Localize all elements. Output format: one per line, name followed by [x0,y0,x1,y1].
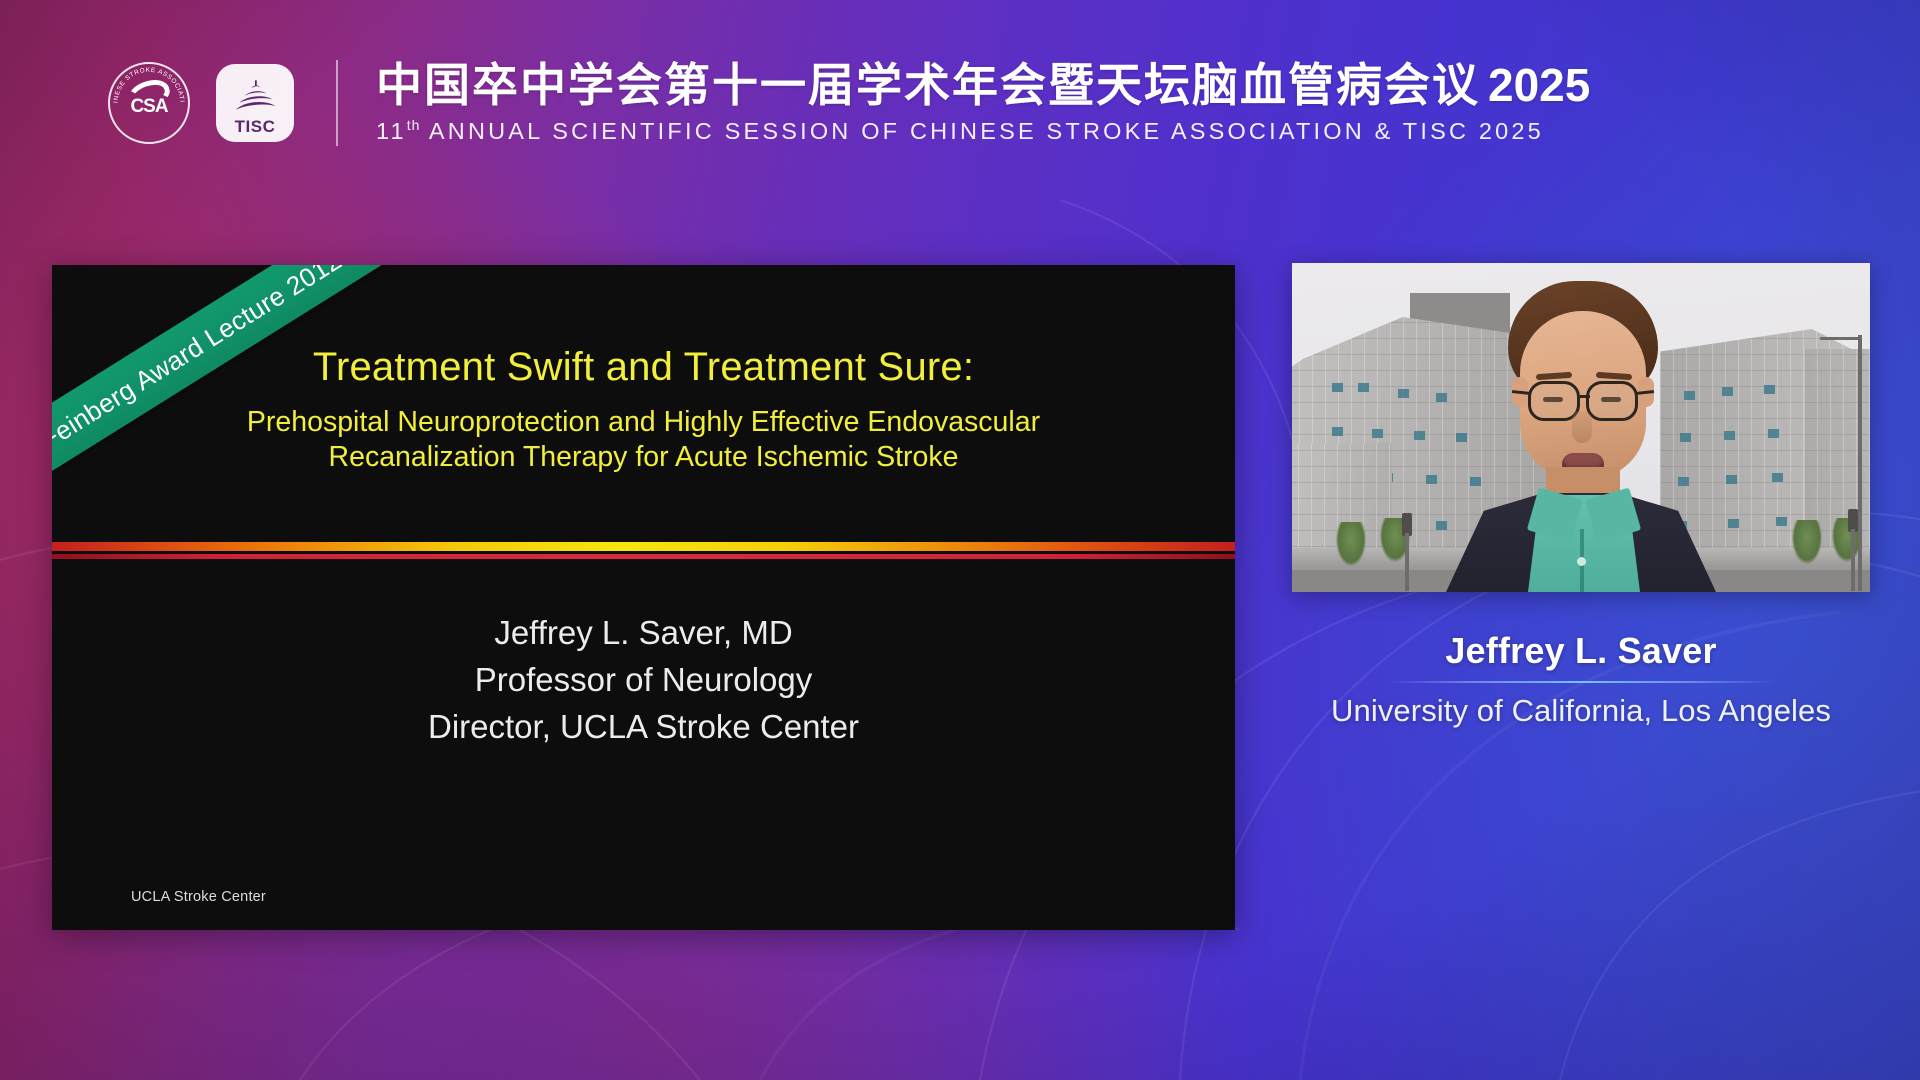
slide-footer-label: UCLA Stroke Center [131,889,266,905]
csa-logo-icon: CHINESE STROKE ASSOCIATION CSA [108,62,190,144]
caption-divider-rule [1385,681,1777,683]
header-text-block: 中国卒中学会第十一届学术年会暨天坛脑血管病会议2025 11th ANNUAL … [376,60,1590,145]
speaker-caption: Jeffrey L. Saver University of Californi… [1292,630,1870,732]
slide-presenter-block: Jeffrey L. Saver, MD Professor of Neurol… [52,562,1235,930]
conference-title-cn: 中国卒中学会第十一届学术年会暨天坛脑血管病会议2025 [376,60,1590,112]
signal-pole [1851,529,1855,591]
shirt-button [1577,557,1586,566]
glasses-lens-right [1586,381,1638,421]
presentation-slide[interactable]: Feinberg Award Lecture 2012 Treatment Sw… [52,265,1235,930]
speaker-portrait [1450,281,1712,592]
webcast-stage: CHINESE STROKE ASSOCIATION CSA TISC [0,0,1920,1080]
speaker-name: Jeffrey L. Saver [1292,630,1870,671]
street-light-arm [1820,337,1860,340]
slide-subtitle-line-1: Prehospital Neuroprotection and Highly E… [112,405,1175,440]
divider-red-line [52,554,1235,559]
slide-main-title: Treatment Swift and Treatment Sure: [52,345,1235,390]
subtitle-rest-text: ANNUAL SCIENTIFIC SESSION OF CHINESE STR… [429,118,1544,144]
slide-subtitle: Prehospital Neuroprotection and Highly E… [112,405,1175,475]
header-logos: CHINESE STROKE ASSOCIATION CSA TISC [108,62,294,144]
slide-divider [52,540,1235,562]
conference-subtitle-en: 11th ANNUAL SCIENTIFIC SESSION OF CHINES… [376,117,1590,145]
tisc-logo-icon: TISC [216,64,294,142]
speaker-nose [1572,411,1592,443]
street-tree [1336,522,1366,566]
tisc-logo-label: TISC [235,118,276,135]
slide-subtitle-line-2: Recanalization Therapy for Acute Ischemi… [112,440,1175,475]
divider-gradient-bar [52,542,1235,551]
presenter-line-role: Director, UCLA Stroke Center [52,704,1235,751]
speaker-video-feed[interactable] [1292,263,1870,592]
street-tree [1792,520,1822,564]
presenter-line-title: Professor of Neurology [52,657,1235,704]
glasses-bridge [1580,395,1590,398]
conference-year: 2025 [1488,59,1590,111]
subtitle-ordinal-number: 11 [376,118,407,144]
presenter-line-name: Jeffrey L. Saver, MD [52,610,1235,657]
header-divider [336,60,338,146]
slide-title-area: Feinberg Award Lecture 2012 Treatment Sw… [52,265,1235,540]
conference-title-cn-text: 中国卒中学会第十一届学术年会暨天坛脑血管病会议 [376,59,1480,111]
temple-of-heaven-icon [229,76,281,114]
speaker-affiliation: University of California, Los Angeles [1292,691,1870,732]
conference-header: CHINESE STROKE ASSOCIATION CSA TISC [0,0,1920,205]
subtitle-ordinal-suffix: th [407,117,421,133]
street-light-pole [1858,335,1862,591]
signal-pole [1405,533,1409,591]
